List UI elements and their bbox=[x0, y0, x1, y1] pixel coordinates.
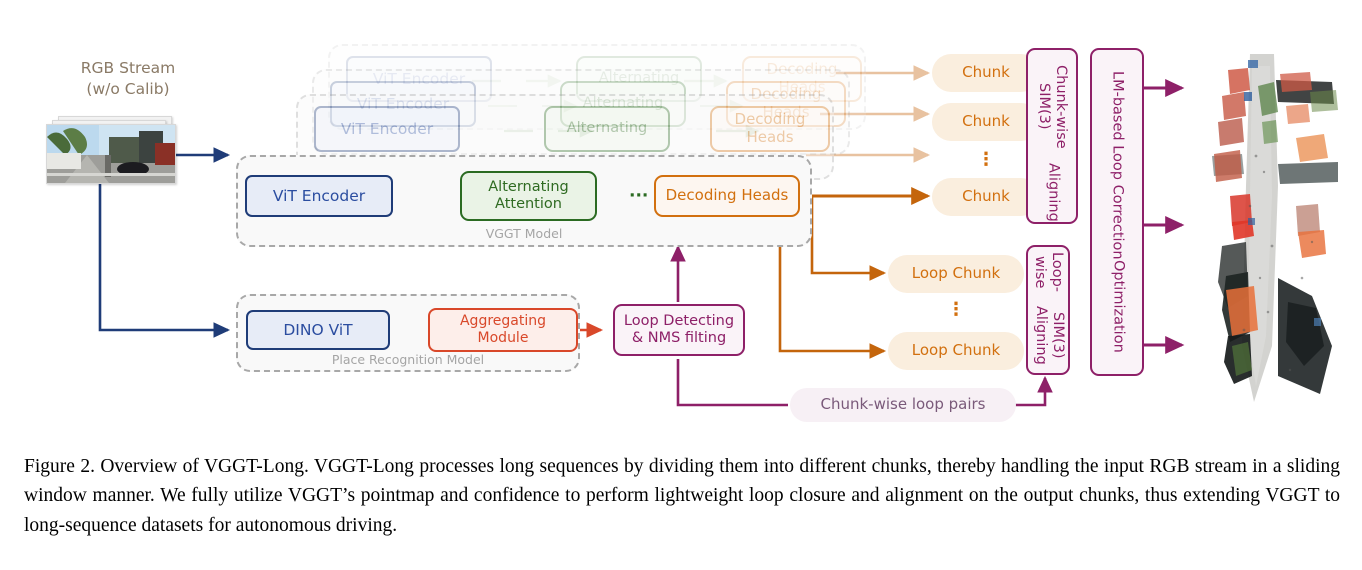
alternating-attention-node[interactable]: Alternating Attention bbox=[460, 171, 597, 221]
rgb-stream-label-line1: RGB Stream bbox=[38, 58, 218, 79]
decoding-heads-node[interactable]: Decoding Heads bbox=[654, 175, 800, 217]
loopwise-aligning-line1: Loop-wise bbox=[1031, 247, 1065, 297]
chunkwise-aligning-line1: Chunk-wise SIM(3) bbox=[1035, 50, 1069, 163]
chunk-ellipsis: ⋮ bbox=[932, 148, 1040, 172]
chunkwise-sim3-aligning-node[interactable]: Chunk-wise SIM(3) Aligning bbox=[1026, 48, 1078, 224]
loopwise-aligning-line2: SIM(3) Aligning bbox=[1032, 297, 1066, 373]
loop-chunk-item-2[interactable]: Loop Chunk bbox=[888, 332, 1024, 370]
aggregating-module-line1: Aggregating bbox=[460, 313, 546, 330]
loop-detecting-node[interactable]: Loop Detecting & NMS filting bbox=[613, 304, 745, 356]
place-recognition-caption: Place Recognition Model bbox=[238, 352, 578, 367]
lm-loop-correction-node[interactable]: LM-based Loop Correction Optimization bbox=[1090, 48, 1144, 376]
dino-vit-node[interactable]: DINO ViT bbox=[246, 310, 390, 350]
chunkwise-loop-pairs-node[interactable]: Chunk-wise loop pairs bbox=[790, 388, 1016, 422]
lm-optimization-line2: Optimization bbox=[1109, 260, 1126, 353]
rgb-stream-label: RGB Stream (w/o Calib) bbox=[38, 58, 218, 100]
loop-detecting-line1: Loop Detecting bbox=[624, 313, 734, 330]
aggregating-module-line2: Module bbox=[478, 330, 529, 347]
aggregating-module-node[interactable]: Aggregating Module bbox=[428, 308, 578, 352]
chunk-item-1[interactable]: Chunk bbox=[932, 54, 1040, 92]
figure-diagram: RGB Stream (w/o Calib) bbox=[0, 0, 1362, 440]
photo-stack-icon bbox=[44, 116, 174, 182]
loop-chunk-item-1[interactable]: Loop Chunk bbox=[888, 255, 1024, 293]
vggt-model-caption: VGGT Model bbox=[238, 226, 810, 241]
vggt-ellipsis: ··· bbox=[629, 186, 648, 206]
alternating-attention-line2: Attention bbox=[495, 196, 562, 213]
chunk-item-3[interactable]: Chunk bbox=[932, 178, 1040, 216]
chunkwise-aligning-line2: Aligning bbox=[1044, 163, 1061, 222]
vit-encoder-node[interactable]: ViT Encoder bbox=[245, 175, 393, 217]
lm-optimization-line1: LM-based Loop Correction bbox=[1108, 71, 1125, 260]
figure-caption: Figure 2. Overview of VGGT-Long. VGGT-Lo… bbox=[24, 452, 1340, 540]
loop-chunk-ellipsis: ⋮ bbox=[888, 298, 1024, 322]
chunk-item-2[interactable]: Chunk bbox=[932, 103, 1040, 141]
loop-detecting-line2: & NMS filting bbox=[632, 330, 726, 347]
rgb-stream-label-line2: (w/o Calib) bbox=[38, 79, 218, 100]
alternating-attention-line1: Alternating bbox=[488, 179, 568, 196]
pointcloud-result bbox=[1192, 46, 1340, 414]
loopwise-sim3-aligning-node[interactable]: Loop-wise SIM(3) Aligning bbox=[1026, 245, 1070, 375]
